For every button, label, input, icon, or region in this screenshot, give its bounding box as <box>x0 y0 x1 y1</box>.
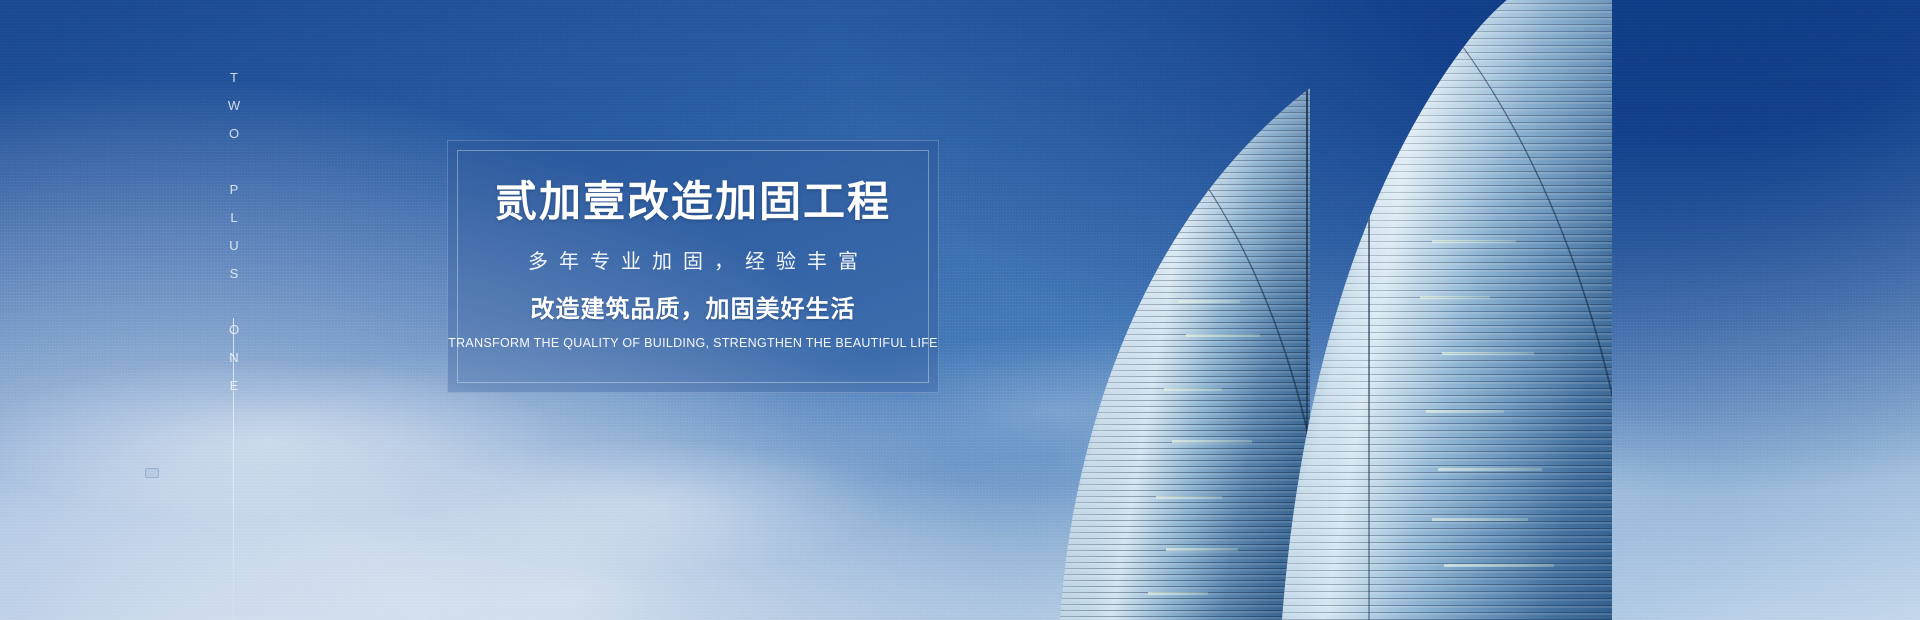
tower-lit-window <box>1178 300 1240 303</box>
tower-spine <box>1368 0 1370 620</box>
tower-lit-window <box>1444 564 1554 567</box>
tower-lit-window <box>1172 440 1252 443</box>
brand-vertical-label: TWO PLUS ONE <box>227 70 242 406</box>
brand-vertical-rule <box>233 318 234 620</box>
tower-lit-window <box>1166 548 1238 551</box>
hero-text-panel: 贰加壹改造加固工程 多年专业加固，经验丰富 改造建筑品质，加固美好生活 TRAN… <box>447 140 939 393</box>
hero-tagline-cn: 改造建筑品质，加固美好生活 <box>531 298 856 322</box>
twin-towers-photo <box>1060 0 1700 620</box>
tower-curve-edge <box>1282 0 1612 620</box>
tower-lit-window <box>1432 240 1516 243</box>
tower-rear-right <box>1282 0 1612 620</box>
tower-front-left <box>1060 88 1310 620</box>
tower-lit-window <box>1156 496 1222 499</box>
hero-banner: TWO PLUS ONE 贰加壹改造加固工程 多年专业加固，经验丰富 改造建筑品… <box>0 0 1920 620</box>
hero-subtitle: 多年专业加固，经验丰富 <box>517 252 869 272</box>
tower-lit-window <box>1420 296 1490 299</box>
panel-content: 贰加壹改造加固工程 多年专业加固，经验丰富 改造建筑品质，加固美好生活 TRAN… <box>448 141 938 392</box>
tower-curve-edge <box>1060 88 1310 620</box>
tower-lit-window <box>1148 592 1208 595</box>
tower-lit-window <box>1442 352 1534 355</box>
hero-tagline-en: TRANSFORM THE QUALITY OF BUILDING, STREN… <box>448 337 938 350</box>
brand-vertical-text: TWO PLUS ONE <box>222 70 246 330</box>
tower-lit-window <box>1164 388 1222 391</box>
brand-corner-mark <box>145 468 159 478</box>
tower-lit-window <box>1186 334 1260 337</box>
tower-lit-window <box>1438 468 1542 471</box>
hero-title: 贰加壹改造加固工程 <box>495 181 891 223</box>
tower-lit-window <box>1426 410 1504 413</box>
tower-lit-window <box>1432 518 1528 521</box>
